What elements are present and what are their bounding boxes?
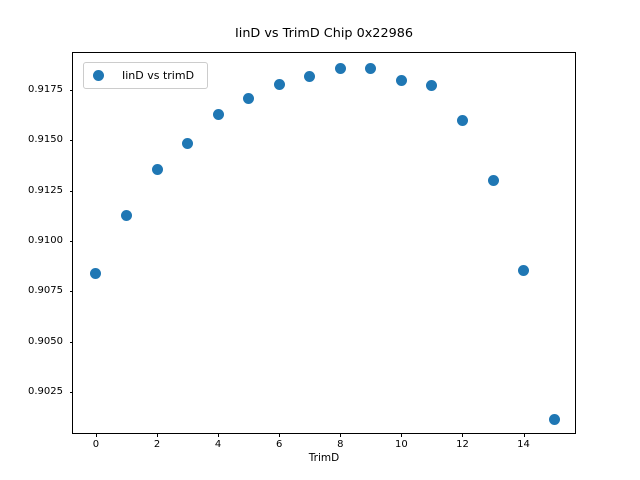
plot-axes: IinD vs trimD 024681012140.90250.90500.9…	[72, 52, 576, 434]
x-axis-label: TrimD	[72, 452, 576, 465]
chart-legend[interactable]: IinD vs trimD	[83, 62, 208, 89]
y-axis-tick	[70, 191, 74, 192]
x-axis-tick	[96, 433, 97, 437]
data-point	[396, 75, 407, 86]
y-axis-tick	[70, 140, 74, 141]
data-point	[304, 71, 315, 82]
y-axis-tick	[70, 342, 74, 343]
x-axis-tick-label: 0	[76, 439, 116, 451]
x-axis-tick	[340, 433, 341, 437]
y-axis-tick	[70, 90, 74, 91]
x-axis-tick-label: 6	[259, 439, 299, 451]
legend-marker-icon	[93, 70, 104, 81]
data-point	[457, 115, 468, 126]
matplotlib-figure: IinD vs TrimD Chip 0x22986 IinD (A) Trim…	[0, 0, 640, 480]
y-axis-tick-label: 0.9075	[3, 285, 63, 297]
y-axis-tick	[70, 241, 74, 242]
x-axis-tick	[218, 433, 219, 437]
x-axis-tick-label: 12	[442, 439, 482, 451]
data-point	[549, 414, 560, 425]
x-axis-tick	[401, 433, 402, 437]
data-point	[518, 265, 529, 276]
y-axis-tick-label: 0.9025	[3, 386, 63, 398]
chart-title: IinD vs TrimD Chip 0x22986	[72, 26, 576, 42]
data-point	[121, 210, 132, 221]
x-axis-tick-label: 4	[198, 439, 238, 451]
legend-item-label: IinD vs trimD	[104, 69, 198, 82]
y-axis-tick-label: 0.9125	[3, 185, 63, 197]
y-axis-tick-label: 0.9050	[3, 336, 63, 348]
x-axis-tick-label: 2	[137, 439, 177, 451]
data-point	[365, 63, 376, 74]
y-axis-tick	[70, 392, 74, 393]
data-point	[335, 63, 346, 74]
data-point	[213, 109, 224, 120]
x-axis-tick	[279, 433, 280, 437]
x-axis-tick-label: 14	[504, 439, 544, 451]
x-axis-tick-label: 10	[381, 439, 421, 451]
y-axis-tick-label: 0.9150	[3, 134, 63, 146]
data-point	[426, 80, 437, 91]
x-axis-tick	[462, 433, 463, 437]
data-point	[90, 268, 101, 279]
data-point	[243, 93, 254, 104]
data-point	[488, 175, 499, 186]
x-axis-tick	[157, 433, 158, 437]
y-axis-tick	[70, 291, 74, 292]
y-axis-tick-label: 0.9100	[3, 235, 63, 247]
y-axis-tick-label: 0.9175	[3, 84, 63, 96]
data-point	[182, 138, 193, 149]
data-point	[274, 79, 285, 90]
scatter-plot-area	[73, 53, 575, 433]
x-axis-tick	[524, 433, 525, 437]
x-axis-tick-label: 8	[320, 439, 360, 451]
data-point	[152, 164, 163, 175]
